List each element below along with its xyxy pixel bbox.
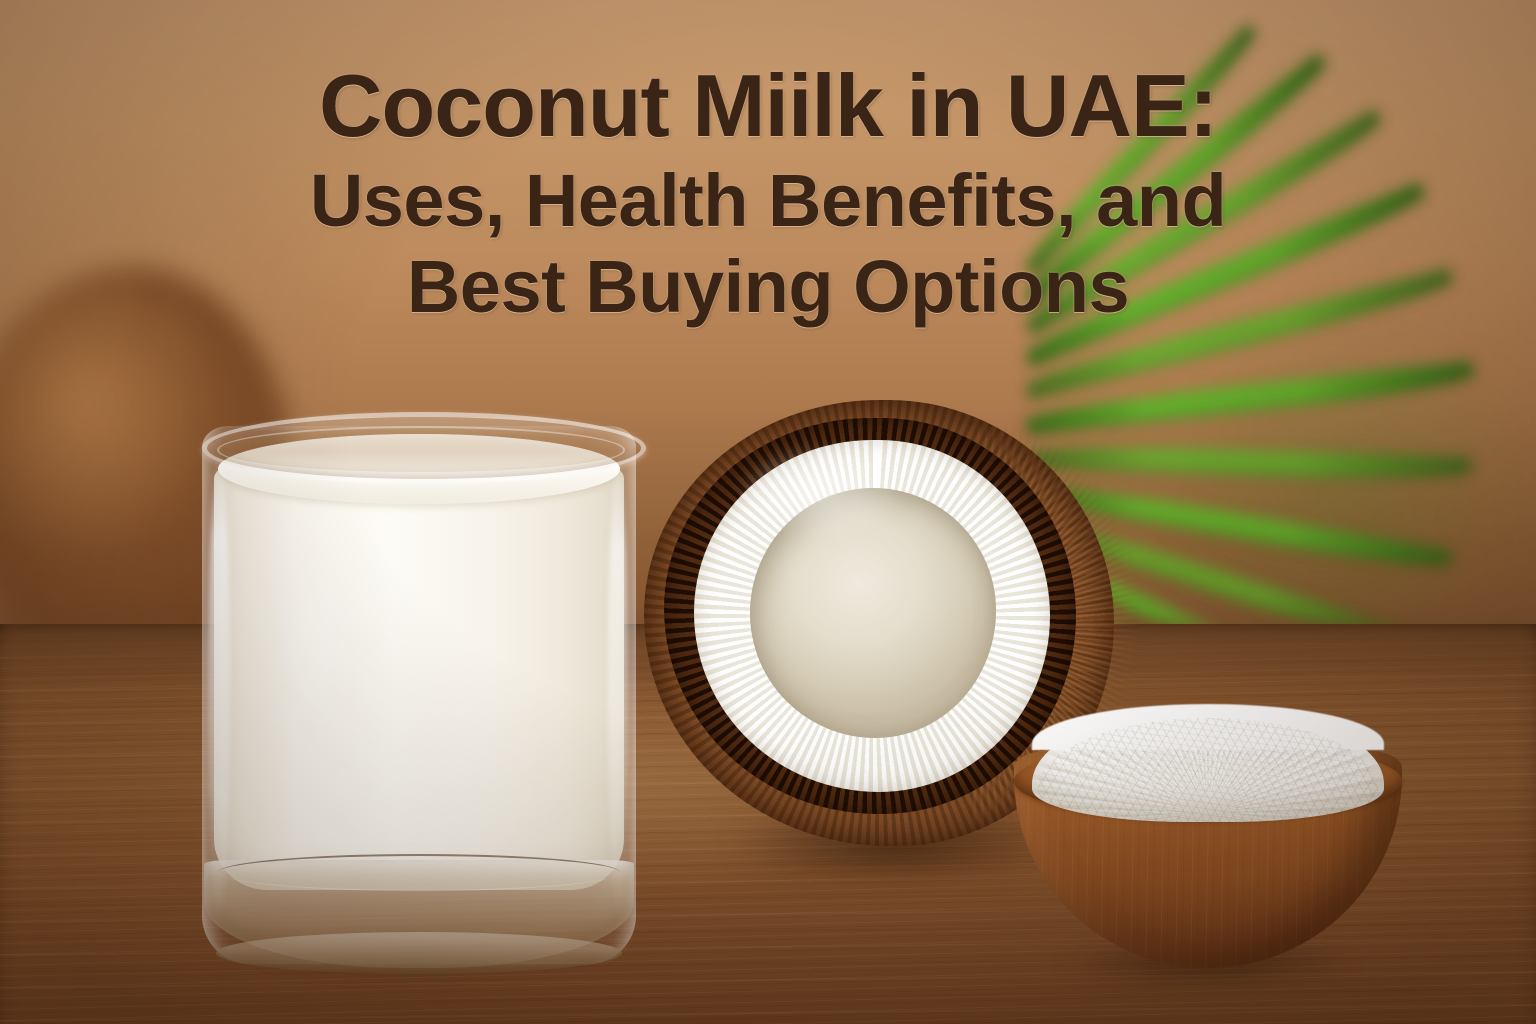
title-overlay: Coconut Miilk in UAE: Uses, Health Benef… [0, 62, 1536, 324]
title-line-3: Best Buying Options [0, 250, 1536, 324]
title-line-1: Coconut Miilk in UAE: [0, 62, 1536, 150]
title-line-2: Uses, Health Benefits, and [0, 164, 1536, 238]
image-canvas: Coconut Miilk in UAE: Uses, Health Benef… [0, 0, 1536, 1024]
